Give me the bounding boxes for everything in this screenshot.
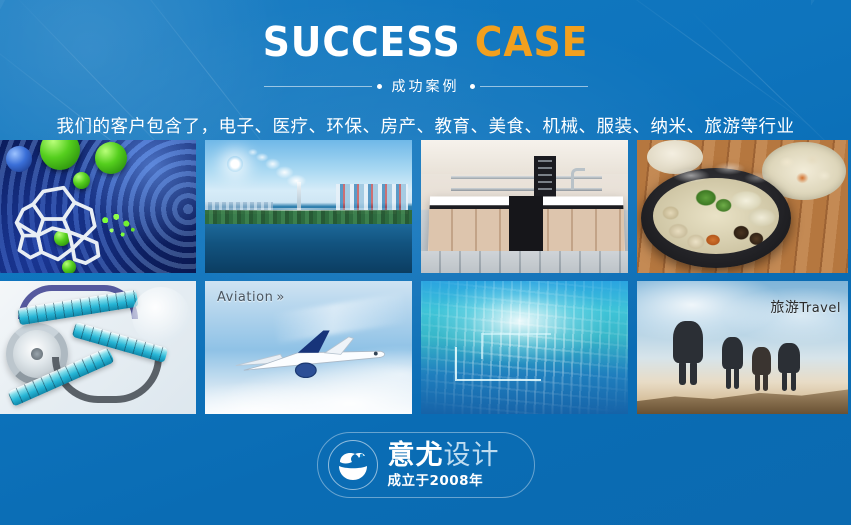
divider-dot-left [377,84,382,89]
divider-left [264,84,382,89]
sun-icon [227,156,243,172]
brand-name-bold: 意尤 [388,440,444,471]
circuit-trace [481,333,551,359]
leaf-bird-mark-icon [328,440,378,490]
subtitle-cn: 成功案例 [392,76,460,96]
chevron-right-icon: » [276,290,282,305]
banner-header: SUCCESS CASE 成功案例 我们的客户包含了，电子、医疗、环保、房产、教… [0,0,851,138]
subtitle-row: 成功案例 [0,76,851,96]
hiker-figure [751,347,773,393]
water-reflection [205,208,412,211]
fullerene-molecule-icon [12,182,104,267]
hiker-figure [721,337,745,391]
gallery-tile-travel[interactable]: 旅游Travel [637,281,848,414]
title-case: CASE [475,18,588,66]
brand-badge[interactable]: 意尤设计 成立于2008年 [317,432,535,498]
nano-sphere [40,140,80,170]
gallery-tile-environment[interactable] [205,140,412,273]
hiker-figure [777,343,803,393]
airplane-icon [229,321,389,383]
divider-right [470,84,588,89]
lab-floor [421,251,628,273]
lab-ceiling [421,140,628,174]
tile-caption-aviation: Aviation» [217,290,282,305]
industries-list: 我们的客户包含了，电子、医疗、环保、房产、教育、美食、机械、服装、纳米、旅游等行… [0,113,851,138]
brand-since: 成立于2008年 [388,474,500,488]
steam [655,154,775,190]
footer-logo-area: 意尤设计 成立于2008年 [0,432,851,498]
tile-caption-travel: 旅游Travel [770,297,841,317]
lab-faucet [571,168,585,190]
smoke-plume [245,148,311,190]
brand-text: 意尤设计 成立于2008年 [388,442,500,488]
lab-control-panel [534,156,556,198]
treeline [205,210,412,224]
hiker-figure [671,321,705,383]
brand-name-light: 设计 [444,440,500,471]
page-title: SUCCESS CASE [34,22,817,63]
lab-cabinet-column [509,196,543,252]
gallery-tile-aviation[interactable]: Aviation» [205,281,412,414]
nano-sphere [6,146,32,172]
gallery-tile-nano[interactable] [0,140,196,273]
divider-dot-right [470,84,475,89]
brand-name: 意尤设计 [388,442,500,470]
highlight [132,287,190,345]
gallery-tile-medical[interactable] [0,281,196,414]
case-image-grid: Aviation» [0,140,851,414]
nano-particles [96,210,142,244]
success-case-banner: SUCCESS CASE 成功案例 我们的客户包含了，电子、医疗、环保、房产、教… [0,0,851,525]
gallery-tile-electronics[interactable] [421,281,628,414]
gallery-tile-laboratory[interactable] [421,140,628,273]
gallery-tile-food[interactable] [637,140,848,273]
nano-sphere [95,142,127,174]
title-success: SUCCESS [263,18,461,66]
